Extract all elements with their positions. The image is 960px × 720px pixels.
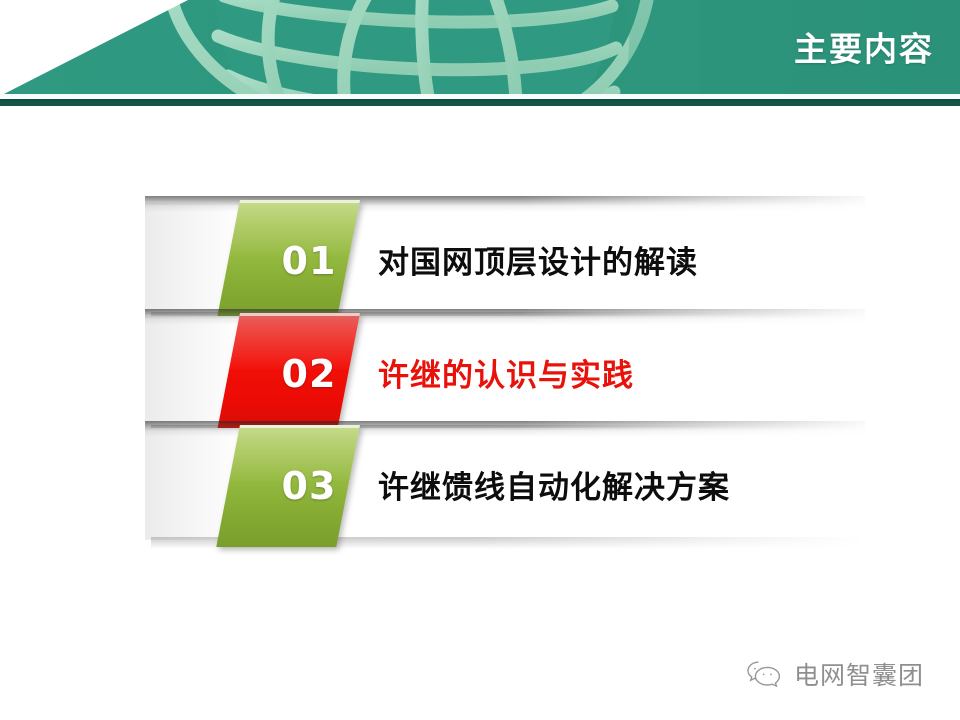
slide-canvas: 主要内容 01 对国网顶层设计的解读 [0, 0, 960, 720]
watermark-text: 电网智囊团 [794, 656, 924, 692]
agenda-number-tile[interactable]: 03 [216, 425, 376, 547]
wechat-logo-icon [744, 658, 784, 690]
watermark: 电网智囊团 [744, 656, 924, 692]
agenda-item-label: 许继的认识与实践 [378, 316, 634, 428]
agenda-item-label: 对国网顶层设计的解读 [378, 203, 698, 315]
slide-header: 主要内容 [0, 0, 960, 97]
header-divider-rule [0, 99, 960, 106]
agenda-number-label: 01 [216, 200, 376, 322]
header-divider-highlight [0, 99, 960, 101]
agenda-number-tile[interactable]: 02 [216, 313, 376, 435]
agenda-list: 01 对国网顶层设计的解读 02 许继的认识与实践 [0, 106, 960, 720]
agenda-number-label: 03 [216, 425, 376, 547]
agenda-item-03[interactable]: 03 许继馈线自动化解决方案 [0, 428, 960, 540]
agenda-item-01[interactable]: 01 对国网顶层设计的解读 [0, 203, 960, 315]
agenda-number-label: 02 [216, 313, 376, 435]
page-title: 主要内容 [794, 32, 934, 65]
agenda-number-tile[interactable]: 01 [216, 200, 376, 322]
agenda-item-02[interactable]: 02 许继的认识与实践 [0, 316, 960, 428]
agenda-item-label: 许继馈线自动化解决方案 [378, 428, 730, 540]
